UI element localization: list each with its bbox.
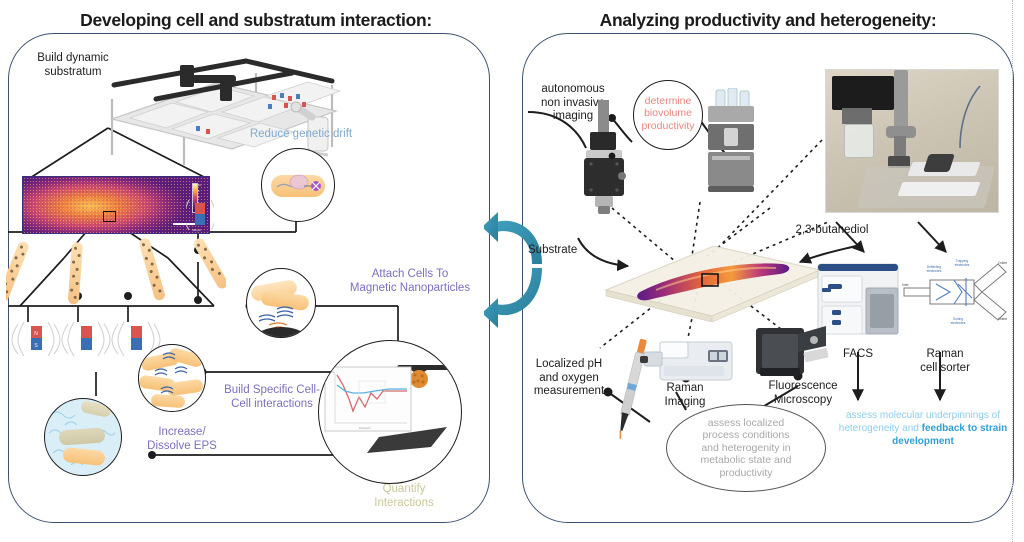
label-assess-localized: assess localized process conditions and … <box>676 417 816 479</box>
label-determine-biovolume: determine biovolume productivity <box>634 95 702 132</box>
sorter-outlet-top-label: Outlet <box>998 261 1007 265</box>
label-substrate: Substrate <box>528 244 600 258</box>
hplc-instrument-icon <box>702 88 760 198</box>
imaging-camera-icon <box>578 100 632 216</box>
svg-text:electrodes: electrodes <box>955 263 970 267</box>
figure-canvas: Developing cell and substratum interacti… <box>0 0 1024 542</box>
svg-text:electrodes: electrodes <box>951 321 966 325</box>
note-assess-localized: assess localized process conditions and … <box>666 404 826 492</box>
label-localized-ph: Localized pH and oxygen measurement <box>528 358 610 399</box>
label-assess-molecular: assess molecular underpinnings of hetero… <box>832 396 1014 448</box>
raman-imaging-icon <box>640 336 740 386</box>
lab-setup-photograph <box>826 70 998 212</box>
raman-cell-sorter-icon: Inlet Outlet Outlet Deflectingelectrodes… <box>902 254 1012 332</box>
label-raman-cell-sorter: Raman cell sorter <box>912 348 978 375</box>
sorter-outlet-bottom-label: Outlet <box>998 317 1007 321</box>
label-raman-imaging: Raman Imaging <box>648 382 722 409</box>
flow-cell-icon <box>596 230 826 322</box>
label-facs: FACS <box>828 348 888 362</box>
microscope-icon <box>754 326 830 378</box>
node-determine-biovolume: determine biovolume productivity <box>633 80 703 150</box>
svg-text:electrodes: electrodes <box>927 269 942 273</box>
label-butanediol: 2,3-butanediol <box>784 224 880 238</box>
sorter-inlet-label: Inlet <box>902 283 908 287</box>
